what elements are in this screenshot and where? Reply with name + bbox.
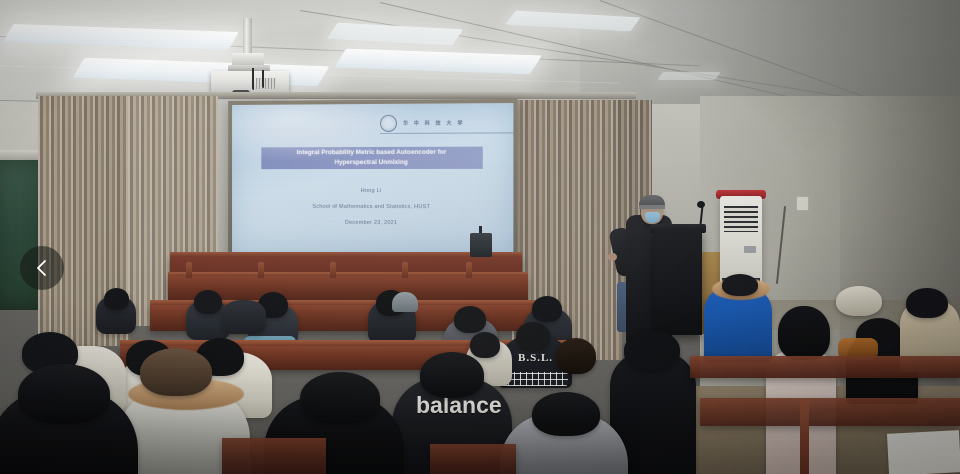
microphone-icon bbox=[697, 201, 705, 208]
bench-row bbox=[690, 356, 960, 378]
slide-affiliation: School of Mathematics and Statistics, HU… bbox=[232, 204, 513, 211]
speaker-hand bbox=[608, 253, 617, 261]
air-conditioner-grille bbox=[724, 206, 758, 232]
desk bbox=[222, 438, 326, 474]
slide-author: Hong Li bbox=[232, 188, 513, 194]
bench-divider bbox=[258, 262, 264, 278]
screen-glare bbox=[232, 103, 420, 162]
projector-cable bbox=[252, 68, 254, 90]
bench-row bbox=[168, 276, 528, 302]
projector-mount-pole bbox=[243, 18, 252, 56]
audience-head bbox=[470, 332, 500, 358]
audience-head bbox=[532, 296, 562, 322]
beanie-hat bbox=[392, 292, 418, 312]
audience-head bbox=[532, 392, 600, 436]
previous-image-button[interactable] bbox=[20, 246, 64, 290]
photo-viewer: 华 中 科 技 大 学 Integral Probability Metric … bbox=[0, 0, 960, 474]
audience-member bbox=[222, 300, 266, 334]
audience-head bbox=[722, 274, 758, 296]
audience-head bbox=[300, 372, 380, 424]
bench-divider bbox=[466, 262, 472, 278]
bench-row bbox=[700, 398, 960, 426]
audience-head bbox=[420, 352, 484, 398]
slide-date: December 23, 2021 bbox=[232, 220, 513, 227]
chevron-left-icon bbox=[34, 258, 50, 278]
audience-head bbox=[906, 288, 948, 318]
audience-head bbox=[556, 338, 596, 374]
air-conditioner-panel bbox=[744, 246, 756, 253]
projector-cable bbox=[262, 70, 264, 88]
garment-label: B.S.L. bbox=[518, 352, 553, 364]
audience-head bbox=[516, 322, 550, 350]
audience-head bbox=[454, 306, 486, 333]
bench-divider bbox=[186, 262, 192, 278]
bench-divider bbox=[402, 262, 408, 278]
audience-head bbox=[194, 290, 222, 314]
bench-divider bbox=[800, 400, 809, 474]
beanie-hat-band bbox=[639, 205, 665, 209]
audience-head bbox=[140, 348, 212, 396]
desk-equipment bbox=[470, 233, 492, 257]
audience-head bbox=[778, 306, 830, 360]
audience-head bbox=[836, 286, 882, 316]
podium bbox=[654, 229, 702, 335]
audience-head bbox=[624, 330, 680, 370]
ceiling-light bbox=[657, 72, 721, 80]
wall-outlet bbox=[796, 196, 809, 211]
paper-sheet bbox=[887, 430, 960, 474]
desk bbox=[430, 444, 516, 474]
audience-head bbox=[18, 364, 110, 424]
bench-divider bbox=[330, 262, 336, 278]
projector-vent bbox=[256, 78, 276, 89]
audience-head bbox=[104, 288, 129, 310]
